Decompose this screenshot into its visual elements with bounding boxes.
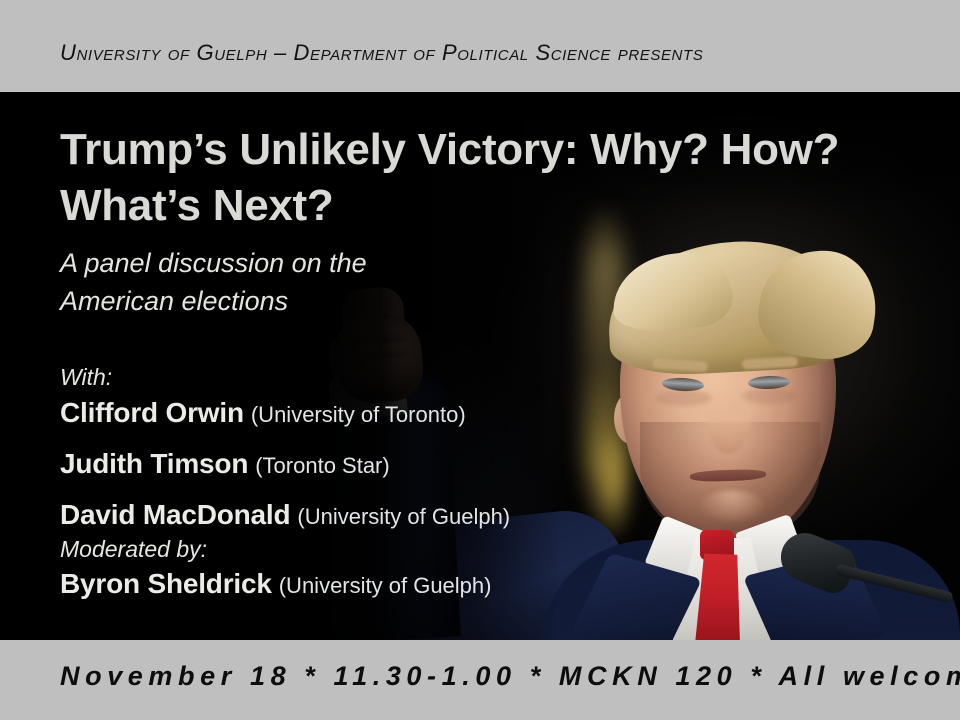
panelist-affiliation: (Toronto Star) bbox=[255, 453, 390, 478]
subtitle: A panel discussion on the American elect… bbox=[60, 244, 480, 320]
event-poster: Trump’s Unlikely Victory: Why? How? What… bbox=[0, 0, 960, 720]
panelist-list: Clifford Orwin(University of Toronto) Ju… bbox=[60, 396, 660, 549]
page-title: Trump’s Unlikely Victory: Why? How? What… bbox=[60, 122, 940, 234]
panelist-name: Clifford Orwin bbox=[60, 397, 244, 428]
moderator-name: Byron Sheldrick bbox=[60, 568, 272, 599]
panelist-name: Judith Timson bbox=[60, 448, 248, 479]
event-details: November 18 * 11.30-1.00 * MCKN 120 * Al… bbox=[60, 661, 960, 692]
moderator-row: Byron Sheldrick(University of Guelph) bbox=[60, 568, 491, 600]
list-item: Clifford Orwin(University of Toronto) bbox=[60, 396, 660, 435]
panelist-affiliation: (University of Guelph) bbox=[297, 504, 510, 529]
presenter-line: University of Guelph – Department of Pol… bbox=[60, 40, 703, 66]
list-item: Judith Timson(Toronto Star) bbox=[60, 447, 660, 486]
moderator-affiliation: (University of Guelph) bbox=[279, 573, 492, 598]
moderator-label: Moderated by: bbox=[60, 536, 207, 563]
panelist-affiliation: (University of Toronto) bbox=[251, 402, 466, 427]
poster-body: Trump’s Unlikely Victory: Why? How? What… bbox=[0, 92, 960, 640]
panelists-label: With: bbox=[60, 364, 112, 391]
panelist-name: David MacDonald bbox=[60, 499, 290, 530]
list-item: David MacDonald(University of Guelph) bbox=[60, 498, 660, 537]
